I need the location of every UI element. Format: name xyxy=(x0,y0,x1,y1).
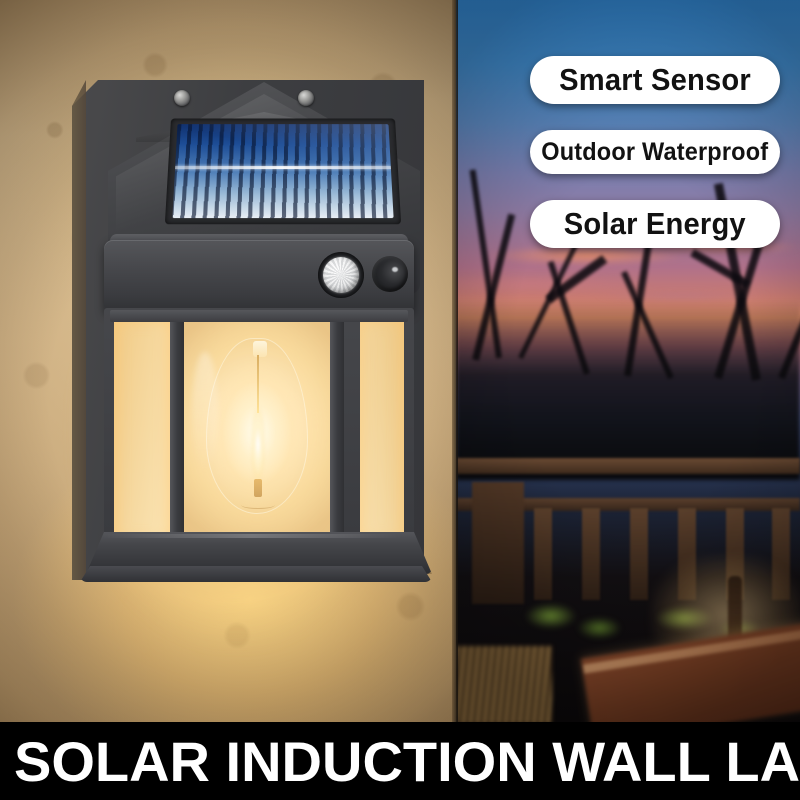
lantern-frame-top xyxy=(110,310,408,322)
bottom-banner: SOLAR INDUCTION WALL LAMP xyxy=(0,722,800,800)
motion-sensor-icon xyxy=(318,252,364,298)
feature-badge-list: Smart Sensor Outdoor Waterproof Solar En… xyxy=(530,56,780,248)
feature-badge-label: Solar Energy xyxy=(564,206,746,242)
solar-panel xyxy=(165,119,401,225)
filament-bulb xyxy=(206,338,308,514)
glass-panel-right xyxy=(360,318,404,542)
bulb-neck xyxy=(253,341,267,357)
light-sensor-icon xyxy=(372,256,408,292)
solar-wall-lamp xyxy=(72,72,436,602)
motion-sensor-dome xyxy=(323,257,359,293)
feature-badge-outdoor-waterproof: Outdoor Waterproof xyxy=(530,130,780,174)
lamp-base-front xyxy=(80,566,432,582)
solar-panel-sheen xyxy=(172,124,393,218)
glass-glare xyxy=(192,352,218,472)
glass-panel-front xyxy=(182,322,332,538)
feature-badge-label: Smart Sensor xyxy=(559,62,751,98)
sensor-bar xyxy=(104,240,414,312)
lantern-frame-post xyxy=(170,314,184,546)
solar-panel-cells xyxy=(172,124,393,218)
screw-icon xyxy=(174,90,190,106)
glass-panel-left xyxy=(114,318,170,542)
left-scene-wall xyxy=(0,0,456,722)
product-advertisement: Smart Sensor Outdoor Waterproof Solar En… xyxy=(0,0,800,800)
bulb-filament xyxy=(251,405,265,483)
bulb-filament-base xyxy=(254,479,262,497)
screw-icon xyxy=(298,90,314,106)
lantern-body xyxy=(104,308,414,552)
lamp-mounting-plate-edge xyxy=(72,80,86,580)
bulb-tip xyxy=(241,501,275,509)
lantern-frame-post xyxy=(330,314,344,546)
feature-badge-smart-sensor: Smart Sensor xyxy=(530,56,780,104)
feature-badge-label: Outdoor Waterproof xyxy=(541,138,768,167)
product-title: SOLAR INDUCTION WALL LAMP xyxy=(0,729,800,794)
panel-divider xyxy=(452,0,458,722)
feature-badge-solar-energy: Solar Energy xyxy=(530,200,780,248)
lamp-base-highlight xyxy=(102,534,402,538)
